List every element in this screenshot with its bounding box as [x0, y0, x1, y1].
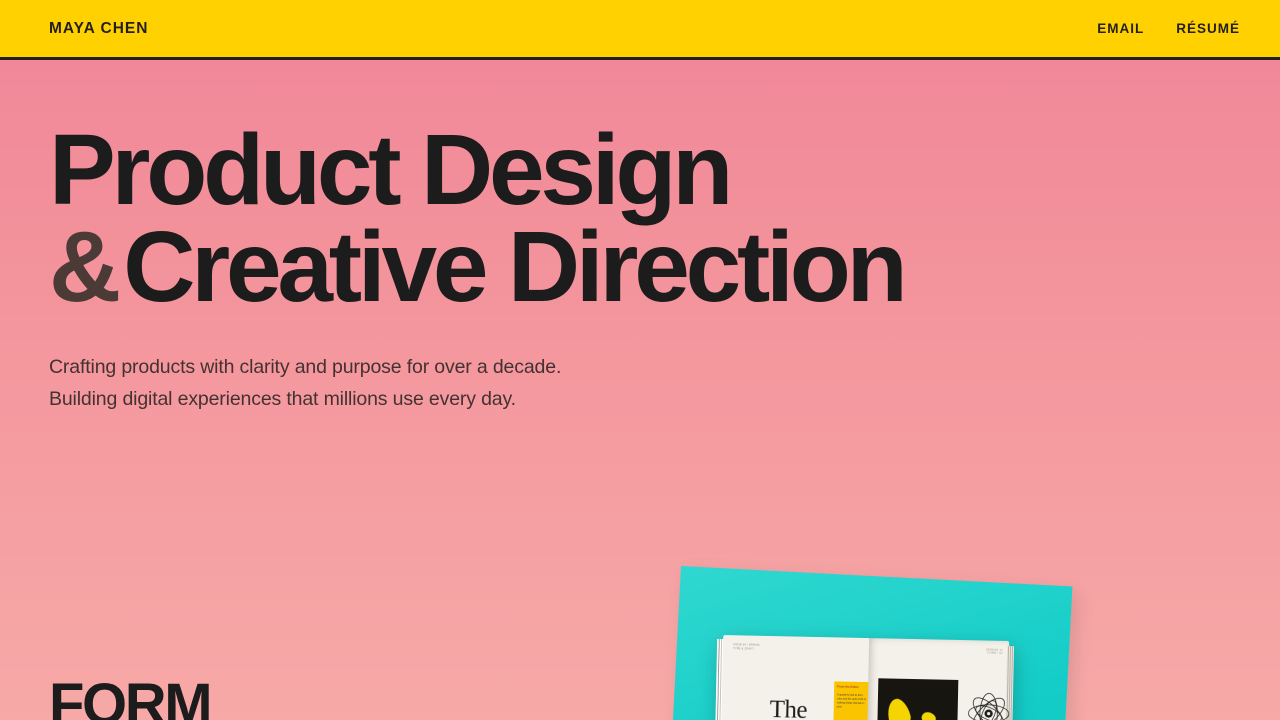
- left-page-kicker: ISSUE 04 / SPRING TYPE & CRAFT: [733, 643, 793, 652]
- section-heading-form: FORM: [49, 676, 210, 720]
- pear-shape-small: [884, 696, 913, 720]
- magazine-yellow-sidebar: From the Editor A quarterly look at form…: [831, 681, 872, 720]
- headline-line-2-text: Creative Direction: [123, 211, 903, 323]
- headline-line-2: &Creative Direction: [49, 219, 1280, 316]
- black-art-panel: [876, 678, 958, 720]
- spirograph-atom-icon: [965, 690, 1012, 720]
- magazine-spread: ISSUE 04 / SPRING TYPE & CRAFT The ZIN F…: [713, 635, 1015, 720]
- headline-ampersand: &: [49, 211, 119, 323]
- sidebar-heading: From the Editor: [837, 684, 869, 689]
- hero-subhead: Crafting products with clarity and purpo…: [0, 352, 1280, 416]
- magazine-left-page: ISSUE 04 / SPRING TYPE & CRAFT The ZIN F…: [719, 635, 869, 720]
- primary-nav: EMAIL RÉSUMÉ: [1097, 21, 1240, 36]
- subhead-line-1: Crafting products with clarity and purpo…: [49, 356, 561, 378]
- showcase-photo: ISSUE 04 / SPRING TYPE & CRAFT The ZIN F…: [655, 548, 1115, 720]
- pear-shape-large-stem: [919, 709, 937, 720]
- headline-line-1: Product Design: [49, 122, 1280, 219]
- nav-link-resume[interactable]: RÉSUMÉ: [1176, 21, 1240, 36]
- hero-section: Product Design &Creative Direction Craft…: [0, 60, 1280, 416]
- sidebar-body: A quarterly look at form, color and the …: [837, 693, 869, 710]
- right-page-folio: SPREAD 12 FORM / 02: [963, 648, 1003, 655]
- brand-wordmark[interactable]: MAYA CHEN: [49, 20, 148, 38]
- magazine-title-zin: ZIN: [740, 713, 826, 720]
- nav-link-email[interactable]: EMAIL: [1097, 21, 1144, 36]
- subhead-line-2: Building digital experiences that millio…: [49, 388, 516, 410]
- page-title: Product Design &Creative Direction: [0, 122, 1280, 316]
- site-header: MAYA CHEN EMAIL RÉSUMÉ: [0, 0, 1280, 60]
- page-root: MAYA CHEN EMAIL RÉSUMÉ Product Design &C…: [0, 0, 1280, 720]
